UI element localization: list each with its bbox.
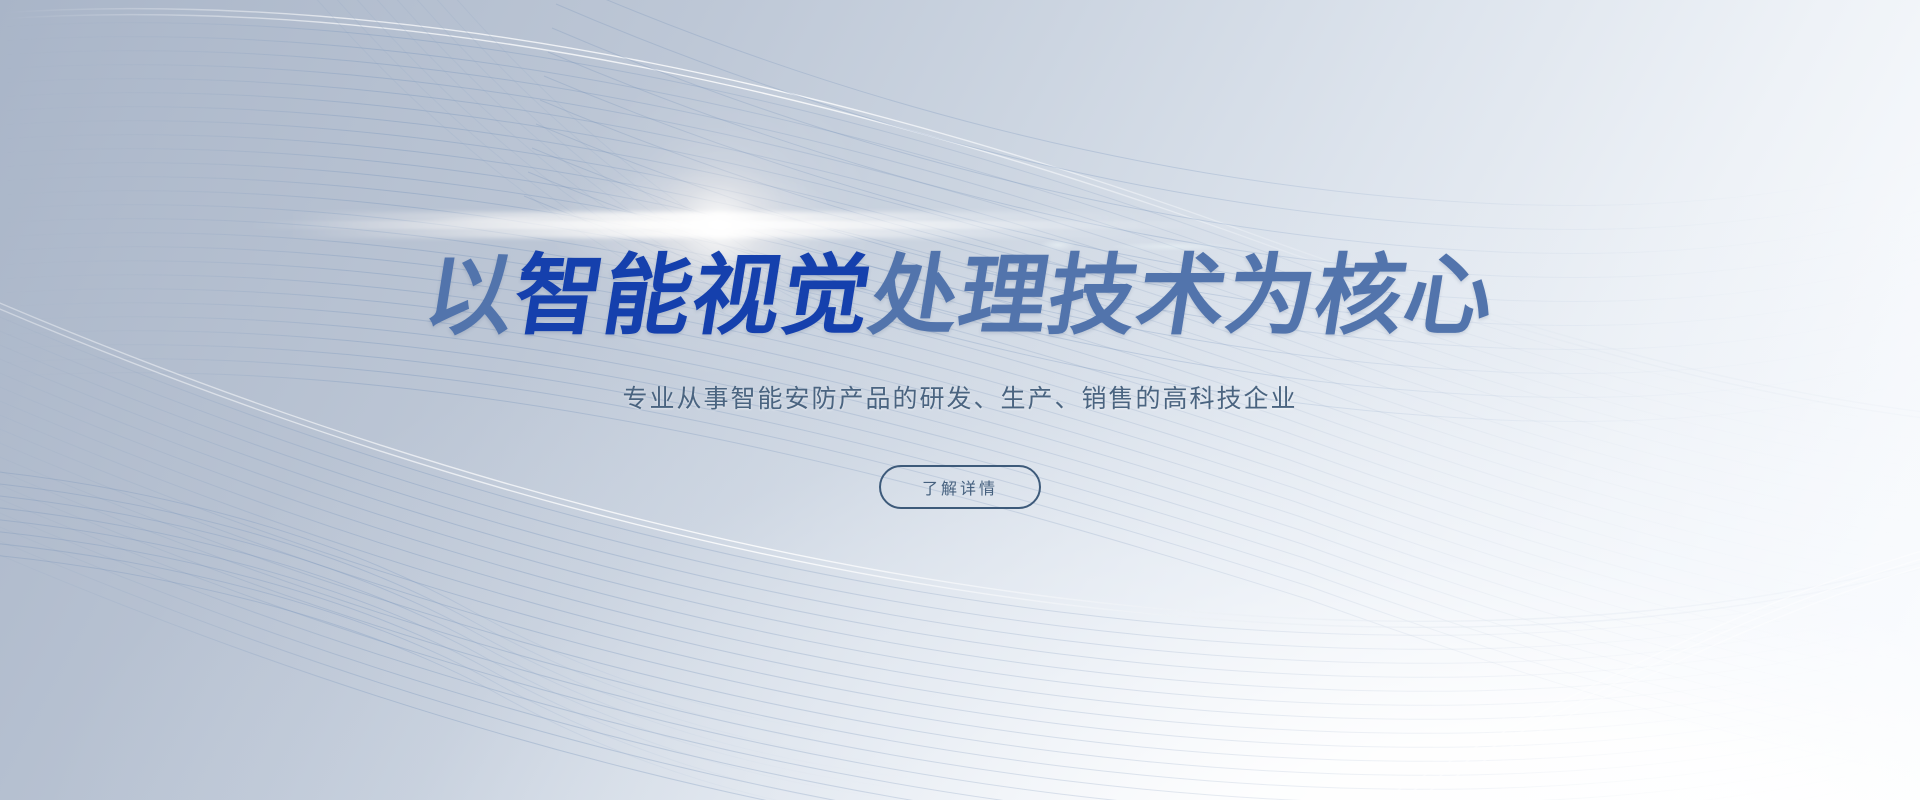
hero-content: 以智能视觉处理技术为核心 专业从事智能安防产品的研发、生产、销售的高科技企业 了… — [0, 0, 1920, 800]
hero-headline: 以智能视觉处理技术为核心 — [419, 252, 1501, 340]
headline-segment-1: 以 — [418, 246, 523, 345]
learn-more-button[interactable]: 了解详情 — [879, 465, 1041, 509]
headline-segment-2: 智能视觉 — [507, 246, 879, 345]
headline-segment-3: 处理技术为核心 — [863, 246, 1502, 345]
hero-subtitle: 专业从事智能安防产品的研发、生产、销售的高科技企业 — [622, 382, 1297, 417]
hero-banner: 以智能视觉处理技术为核心 专业从事智能安防产品的研发、生产、销售的高科技企业 了… — [0, 0, 1920, 800]
